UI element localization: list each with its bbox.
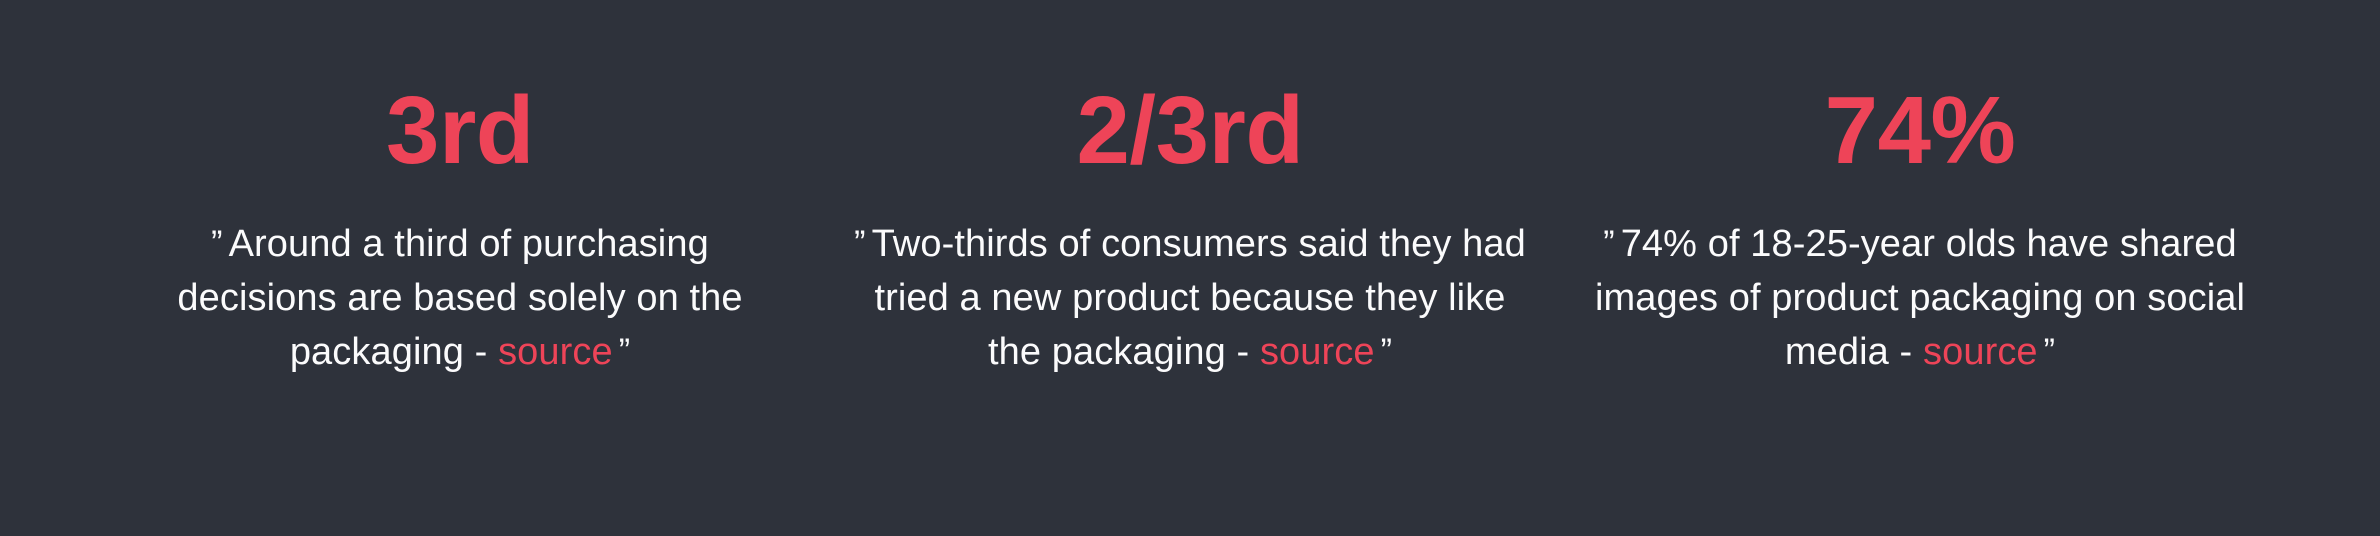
stat-quote-text-3: 74% of 18-25-year olds have shared image… bbox=[1595, 223, 2245, 373]
stat-column-1: 3rd ”Around a third of purchasing decisi… bbox=[95, 82, 825, 380]
stat-figure-2: 2/3rd bbox=[1077, 82, 1304, 180]
stat-quote-3: ”74% of 18-25-year olds have shared imag… bbox=[1570, 218, 2270, 380]
source-link-3[interactable]: source bbox=[1923, 331, 2038, 373]
stat-quote-text-2: Two-thirds of consumers said they had tr… bbox=[872, 223, 1526, 373]
stat-figure-3: 74% bbox=[1825, 82, 2016, 180]
stat-figure-1: 3rd bbox=[386, 82, 534, 180]
opening-quote-mark-icon: ” bbox=[1603, 224, 1614, 262]
source-link-1[interactable]: source bbox=[498, 331, 613, 373]
closing-quote-mark-icon: ” bbox=[619, 332, 630, 370]
stat-quote-1: ”Around a third of purchasing decisions … bbox=[140, 218, 780, 380]
statistics-band: 3rd ”Around a third of purchasing decisi… bbox=[0, 0, 2380, 536]
stat-quote-2: ”Two-thirds of consumers said they had t… bbox=[853, 218, 1528, 380]
closing-quote-mark-icon: ” bbox=[1381, 332, 1392, 370]
source-link-2[interactable]: source bbox=[1260, 331, 1375, 373]
stat-column-2: 2/3rd ”Two-thirds of consumers said they… bbox=[825, 82, 1555, 380]
stat-quote-text-1: Around a third of purchasing decisions a… bbox=[177, 223, 742, 373]
closing-quote-mark-icon: ” bbox=[2044, 332, 2055, 370]
opening-quote-mark-icon: ” bbox=[854, 224, 865, 262]
stat-column-3: 74% ”74% of 18-25-year olds have shared … bbox=[1555, 82, 2285, 380]
opening-quote-mark-icon: ” bbox=[211, 224, 222, 262]
